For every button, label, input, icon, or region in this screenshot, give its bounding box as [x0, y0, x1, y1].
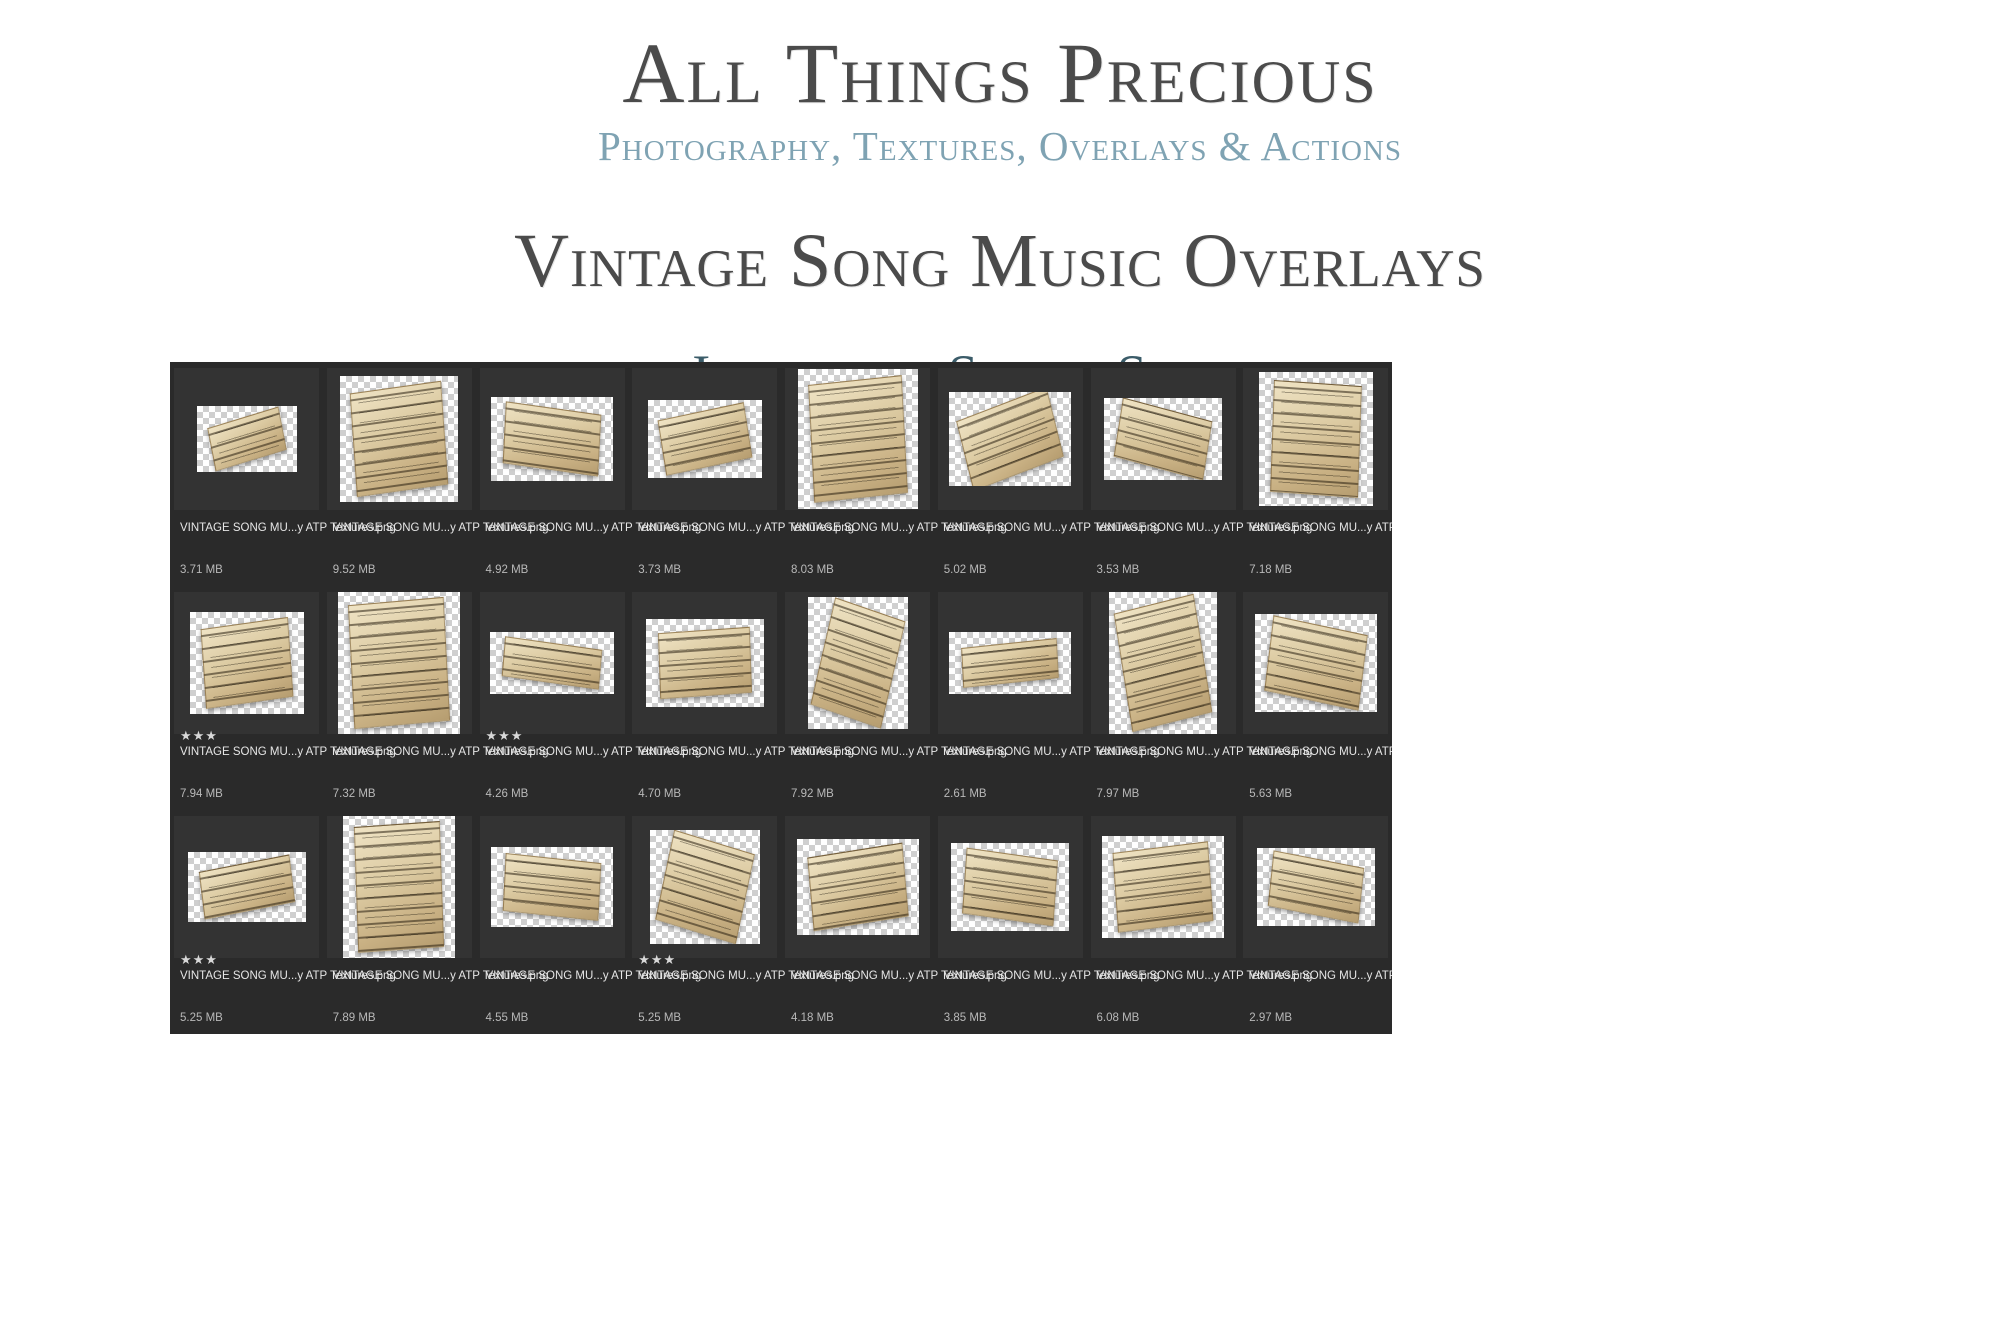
thumbnail-frame[interactable]	[327, 592, 472, 734]
file-size-label: 8.03 MB	[791, 564, 834, 578]
file-item[interactable]: VINTAGE SONG MU...y ATP Textures.png7.18…	[1239, 362, 1392, 586]
thumbnail-frame[interactable]	[632, 368, 777, 510]
transparency-checkerboard	[490, 632, 614, 694]
thumbnail-frame[interactable]	[480, 816, 625, 958]
file-item[interactable]: ★★★VINTAGE SONG MU...y ATP Textures.png4…	[476, 586, 629, 810]
transparency-checkerboard	[491, 847, 613, 927]
file-size-label: 9.52 MB	[333, 564, 376, 578]
file-size-label: 3.71 MB	[180, 564, 223, 578]
thumbnail-frame[interactable]	[632, 592, 777, 734]
file-name-label: VINTAGE SONG MU...y ATP Textures.png	[1249, 970, 1392, 984]
transparency-checkerboard	[491, 397, 613, 481]
transparency-checkerboard	[646, 619, 764, 707]
file-name-label: VINTAGE SONG MU...y ATP Textures.png	[1249, 746, 1392, 760]
file-size-label: 5.25 MB	[180, 1012, 223, 1026]
transparency-checkerboard	[1257, 848, 1375, 926]
file-size-label: 7.18 MB	[1249, 564, 1292, 578]
file-size-label: 7.32 MB	[333, 788, 376, 802]
transparency-checkerboard	[190, 612, 304, 714]
product-title: Vintage Song Music Overlays	[0, 218, 2000, 305]
sheet-music-overlay-image	[207, 407, 287, 472]
thumbnail-frame[interactable]	[785, 816, 930, 958]
file-size-label: 5.63 MB	[1249, 788, 1292, 802]
sheet-music-overlay-image	[350, 381, 449, 498]
file-size-label: 4.70 MB	[638, 788, 681, 802]
file-item[interactable]: VINTAGE SONG MU...y ATP Textures.png3.53…	[1087, 362, 1240, 586]
file-grid-row: ★★★VINTAGE SONG MU...y ATP Textures.png7…	[170, 586, 1392, 810]
sheet-music-overlay-image	[348, 597, 450, 729]
file-grid: VINTAGE SONG MU...y ATP Textures.png3.71…	[170, 362, 1392, 1034]
thumbnail-frame[interactable]	[1243, 816, 1388, 958]
file-item[interactable]: VINTAGE SONG MU...y ATP Textures.png4.92…	[476, 362, 629, 586]
file-grid-row: VINTAGE SONG MU...y ATP Textures.png3.71…	[170, 362, 1392, 586]
file-size-label: 7.89 MB	[333, 1012, 376, 1026]
transparency-checkerboard	[949, 392, 1071, 486]
file-item[interactable]: ★★★VINTAGE SONG MU...y ATP Textures.png5…	[170, 810, 323, 1034]
transparency-checkerboard	[1102, 836, 1224, 938]
file-name-label: VINTAGE SONG MU...y ATP Textures.png	[1249, 522, 1392, 536]
file-item[interactable]: ★★★VINTAGE SONG MU...y ATP Textures.png7…	[170, 586, 323, 810]
file-item[interactable]: VINTAGE SONG MU...y ATP Textures.png6.08…	[1087, 810, 1240, 1034]
sheet-music-overlay-image	[1113, 841, 1214, 933]
sheet-music-overlay-image	[658, 627, 752, 699]
thumbnail-frame[interactable]	[1243, 368, 1388, 510]
file-size-label: 6.08 MB	[1097, 1012, 1140, 1026]
file-size-label: 3.73 MB	[638, 564, 681, 578]
thumbnail-frame[interactable]	[174, 816, 319, 958]
file-item[interactable]: VINTAGE SONG MU...y ATP Textures.png3.85…	[934, 810, 1087, 1034]
sheet-music-overlay-image	[354, 821, 444, 953]
file-item[interactable]: ★★★VINTAGE SONG MU...y ATP Textures.png5…	[628, 810, 781, 1034]
transparency-checkerboard	[951, 843, 1069, 931]
transparency-checkerboard	[343, 816, 455, 958]
thumbnail-frame[interactable]	[327, 816, 472, 958]
file-item[interactable]: VINTAGE SONG MU...y ATP Textures.png2.97…	[1239, 810, 1392, 1034]
file-size-label: 4.55 MB	[486, 1012, 529, 1026]
file-size-label: 4.18 MB	[791, 1012, 834, 1026]
sheet-music-overlay-image	[655, 830, 755, 944]
file-item[interactable]: VINTAGE SONG MU...y ATP Textures.png3.71…	[170, 362, 323, 586]
transparency-checkerboard	[197, 406, 297, 472]
transparency-checkerboard	[797, 839, 919, 935]
sheet-music-overlay-image	[962, 848, 1058, 927]
sheet-music-overlay-image	[1114, 594, 1213, 732]
transparency-checkerboard	[798, 369, 918, 509]
thumbnail-frame[interactable]	[938, 816, 1083, 958]
file-size-label: 2.61 MB	[944, 788, 987, 802]
file-item[interactable]: VINTAGE SONG MU...y ATP Textures.png7.32…	[323, 586, 476, 810]
rating-stars[interactable]: ★★★	[638, 953, 676, 966]
thumbnail-frame[interactable]	[1091, 592, 1236, 734]
file-item[interactable]: VINTAGE SONG MU...y ATP Textures.png7.92…	[781, 586, 934, 810]
transparency-checkerboard	[808, 597, 908, 729]
thumbnail-frame[interactable]	[785, 368, 930, 510]
thumbnail-frame[interactable]	[174, 592, 319, 734]
sheet-music-overlay-image	[961, 638, 1059, 688]
transparency-checkerboard	[1109, 592, 1217, 734]
file-size-label: 3.85 MB	[944, 1012, 987, 1026]
file-item[interactable]: VINTAGE SONG MU...y ATP Textures.png8.03…	[781, 362, 934, 586]
file-size-label: 3.53 MB	[1097, 564, 1140, 578]
thumbnail-frame[interactable]	[480, 368, 625, 510]
thumbnail-frame[interactable]	[1243, 592, 1388, 734]
thumbnail-frame[interactable]	[174, 368, 319, 510]
file-size-label: 4.26 MB	[486, 788, 529, 802]
thumbnail-frame[interactable]	[1091, 816, 1236, 958]
file-size-label: 5.25 MB	[638, 1012, 681, 1026]
thumbnail-frame[interactable]	[938, 592, 1083, 734]
file-item[interactable]: VINTAGE SONG MU...y ATP Textures.png4.55…	[476, 810, 629, 1034]
file-size-label: 5.02 MB	[944, 564, 987, 578]
transparency-checkerboard	[1104, 398, 1222, 480]
sheet-music-overlay-image	[1270, 380, 1362, 498]
file-item[interactable]: VINTAGE SONG MU...y ATP Textures.png5.02…	[934, 362, 1087, 586]
sheet-music-overlay-image	[200, 617, 293, 709]
file-size-label: 2.97 MB	[1249, 1012, 1292, 1026]
sheet-music-overlay-image	[1264, 615, 1368, 710]
file-item[interactable]: VINTAGE SONG MU...y ATP Textures.png7.97…	[1087, 586, 1240, 810]
promo-page: All Things Precious Photography, Texture…	[0, 0, 2000, 1331]
file-item[interactable]: VINTAGE SONG MU...y ATP Textures.png2.61…	[934, 586, 1087, 810]
file-item[interactable]: VINTAGE SONG MU...y ATP Textures.png4.18…	[781, 810, 934, 1034]
transparency-checkerboard	[1255, 614, 1377, 712]
sheet-music-overlay-image	[956, 392, 1064, 486]
sheet-music-overlay-image	[1114, 398, 1213, 480]
sheet-music-overlay-image	[808, 375, 908, 503]
transparency-checkerboard	[340, 376, 458, 502]
sheet-music-overlay-image	[198, 854, 294, 919]
thumbnail-frame[interactable]	[480, 592, 625, 734]
file-grid-row: ★★★VINTAGE SONG MU...y ATP Textures.png5…	[170, 810, 1392, 1034]
sheet-music-overlay-image	[807, 843, 908, 932]
thumbnail-frame[interactable]	[1091, 368, 1236, 510]
sheet-music-overlay-image	[657, 402, 752, 476]
thumbnail-frame[interactable]	[632, 816, 777, 958]
header: All Things Precious Photography, Texture…	[0, 0, 2000, 405]
thumbnail-frame[interactable]	[785, 592, 930, 734]
transparency-checkerboard	[650, 830, 760, 944]
file-size-label: 7.92 MB	[791, 788, 834, 802]
file-item[interactable]: VINTAGE SONG MU...y ATP Textures.png3.73…	[628, 362, 781, 586]
sheet-music-overlay-image	[502, 636, 603, 690]
file-item[interactable]: VINTAGE SONG MU...y ATP Textures.png4.70…	[628, 586, 781, 810]
transparency-checkerboard	[338, 592, 460, 734]
file-size-label: 4.92 MB	[486, 564, 529, 578]
file-item[interactable]: VINTAGE SONG MU...y ATP Textures.png5.63…	[1239, 586, 1392, 810]
file-size-label: 7.97 MB	[1097, 788, 1140, 802]
sheet-music-overlay-image	[1267, 850, 1364, 923]
sheet-music-overlay-image	[810, 597, 905, 728]
sheet-music-overlay-image	[503, 401, 602, 476]
transparency-checkerboard	[949, 632, 1071, 694]
transparency-checkerboard	[188, 852, 306, 922]
transparency-checkerboard	[1259, 372, 1373, 506]
brand-subtitle: Photography, Textures, Overlays & Action…	[0, 122, 2000, 170]
thumbnail-frame[interactable]	[327, 368, 472, 510]
file-item[interactable]: VINTAGE SONG MU...y ATP Textures.png7.89…	[323, 810, 476, 1034]
rating-stars[interactable]: ★★★	[180, 729, 218, 742]
file-size-label: 7.94 MB	[180, 788, 223, 802]
file-item[interactable]: VINTAGE SONG MU...y ATP Textures.png9.52…	[323, 362, 476, 586]
transparency-checkerboard	[648, 400, 762, 478]
file-browser-panel: VINTAGE SONG MU...y ATP Textures.png3.71…	[170, 362, 1392, 1034]
thumbnail-frame[interactable]	[938, 368, 1083, 510]
rating-stars[interactable]: ★★★	[486, 729, 524, 742]
brand-title: All Things Precious	[0, 30, 2000, 116]
rating-stars[interactable]: ★★★	[180, 953, 218, 966]
sheet-music-overlay-image	[503, 853, 602, 921]
